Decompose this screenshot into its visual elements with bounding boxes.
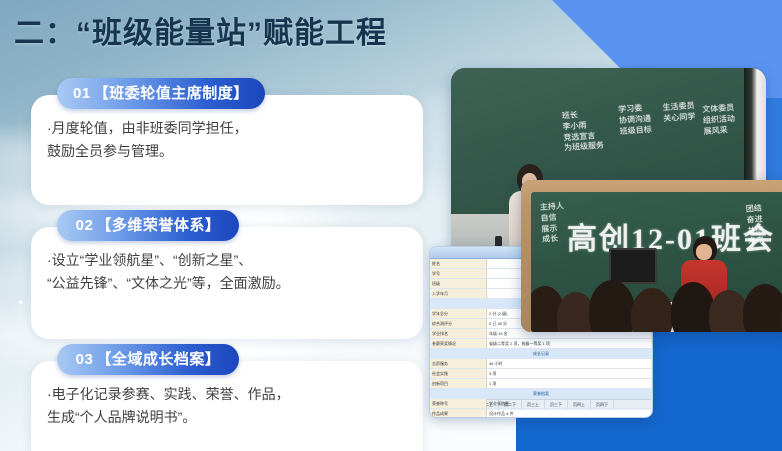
card-text-01: ·月度轮值，由非班委同学担任， 鼓励全员参与管理。 xyxy=(47,117,407,162)
row-label: 志愿服务 xyxy=(430,359,487,368)
card-text-02: ·设立“学业领航星”、“创新之星”、 “公益先锋”、“文体之光”等，全面激励。 xyxy=(47,249,407,294)
card-number-01: 01 xyxy=(73,86,91,102)
row-label: 综合测评分 xyxy=(430,319,487,328)
card-badge-03[interactable]: 03 【全域成长档案】 xyxy=(57,344,239,375)
row-label: 学年总分 xyxy=(430,309,487,318)
row-label: 学号 xyxy=(430,269,487,278)
chalk-scribble-right: 团结 奋进 共创 未来 xyxy=(746,203,765,247)
row-label: 作品成果 xyxy=(430,409,487,418)
spreadsheet-row: 荣誉称号 学业领航星 xyxy=(430,399,652,409)
row-value: 1 项 xyxy=(487,379,652,388)
chalk-note-2: 学习委 协调沟通 班级目标 xyxy=(618,103,652,138)
card-badge-02[interactable]: 02 【多维荣誉体系】 xyxy=(57,210,239,241)
student-silhouette xyxy=(743,284,782,332)
spreadsheet-row: 创新项目 1 项 xyxy=(430,379,652,389)
student-silhouette xyxy=(589,280,635,332)
card-badge-label-03: 【全域成长档案】 xyxy=(96,352,220,368)
presenter-face xyxy=(696,244,712,260)
chalkboard-title-text: 高创12-01班会 xyxy=(567,214,775,258)
page-title: 二：“班级能量站”赋能工程 xyxy=(14,8,387,52)
content-card: 03 【全域成长档案】 ·电子化记录参赛、实践、荣誉、作品， 生成“个人品牌说明… xyxy=(31,361,423,451)
card-badge-01[interactable]: 01 【班委轮值主席制度】 xyxy=(57,78,265,109)
chalk-note-1: 班长 李小雨 竞选宣言 为班级服务 xyxy=(562,109,605,155)
students-audience xyxy=(531,270,782,332)
row-value: 3 项 xyxy=(487,369,652,378)
row-value: 学业领航星 xyxy=(487,399,652,408)
card-number-02: 02 xyxy=(76,218,94,234)
chalk-note-4: 文体委员 组织活动 展风采 xyxy=(702,103,736,138)
row-label: 班级 xyxy=(430,279,487,288)
row-label: 创新项目 xyxy=(430,379,487,388)
chalkboard-wood-frame: 高创12-01班会 主持人 自信 展示 成长 团结 奋进 共创 未来 xyxy=(521,180,782,332)
slide-root: 二：“班级能量站”赋能工程 01 【班委轮值主席制度】 ·月度轮值，由非班委同学… xyxy=(0,0,782,451)
content-card-list: 01 【班委轮值主席制度】 ·月度轮值，由非班委同学担任， 鼓励全员参与管理。 … xyxy=(31,95,423,451)
card-body-02: ·设立“学业领航星”、“创新之星”、 “公益先锋”、“文体之光”等，全面激励。 xyxy=(31,227,423,339)
card-badge-label-02: 【多维荣誉体系】 xyxy=(96,218,220,234)
collage-corner-mask xyxy=(662,331,782,451)
classroom-meeting-photo: 高创12-01班会 主持人 自信 展示 成长 团结 奋进 共创 未来 xyxy=(521,180,782,332)
row-label: 学业排名 xyxy=(430,329,487,338)
card-number-03: 03 xyxy=(76,352,94,368)
spreadsheet-row: 志愿服务 46 小时 xyxy=(430,359,652,369)
spreadsheet-section-header: 荣誉档案 xyxy=(430,389,652,399)
spreadsheet-row: 参赛获奖情况 省级二等奖 2 项，校级一等奖 1 项 xyxy=(430,339,652,349)
photo-collage: 班长 李小雨 竞选宣言 为班级服务 学习委 协调沟通 班级目标 生活委员 关心同… xyxy=(425,0,782,451)
row-value: 46 小时 xyxy=(487,359,652,368)
spreadsheet-row: 社会实践 3 项 xyxy=(430,369,652,379)
row-value: 省级二等奖 2 项，校级一等奖 1 项 xyxy=(487,339,652,348)
row-label: 姓名 xyxy=(430,259,487,268)
chalk-note-3: 生活委员 关心同学 xyxy=(662,101,695,125)
student-silhouette xyxy=(631,288,673,332)
content-card: 01 【班委轮值主席制度】 ·月度轮值，由非班委同学担任， 鼓励全员参与管理。 xyxy=(31,95,423,205)
row-label: 参赛获奖情况 xyxy=(430,339,487,348)
chalkboard-front: 高创12-01班会 主持人 自信 展示 成长 团结 奋进 共创 未来 xyxy=(531,192,782,332)
card-body-01: ·月度轮值，由非班委同学担任， 鼓励全员参与管理。 xyxy=(31,95,423,205)
row-label: 荣誉称号 xyxy=(430,399,487,408)
spreadsheet-section-header: 成长记录 xyxy=(430,349,652,359)
content-card: 02 【多维荣誉体系】 ·设立“学业领航星”、“创新之星”、 “公益先锋”、“文… xyxy=(31,227,423,339)
row-label: 入学年月 xyxy=(430,289,487,298)
row-label: 社会实践 xyxy=(430,369,487,378)
spreadsheet-row: 作品成果 设计作品 4 件 xyxy=(430,409,652,418)
row-value: 设计作品 4 件 xyxy=(487,409,652,418)
card-badge-label-01: 【班委轮值主席制度】 xyxy=(94,86,249,102)
card-text-03: ·电子化记录参赛、实践、荣誉、作品， 生成“个人品牌说明书”。 xyxy=(47,383,407,428)
chalk-scribble-left: 主持人 自信 展示 成长 xyxy=(540,201,567,246)
